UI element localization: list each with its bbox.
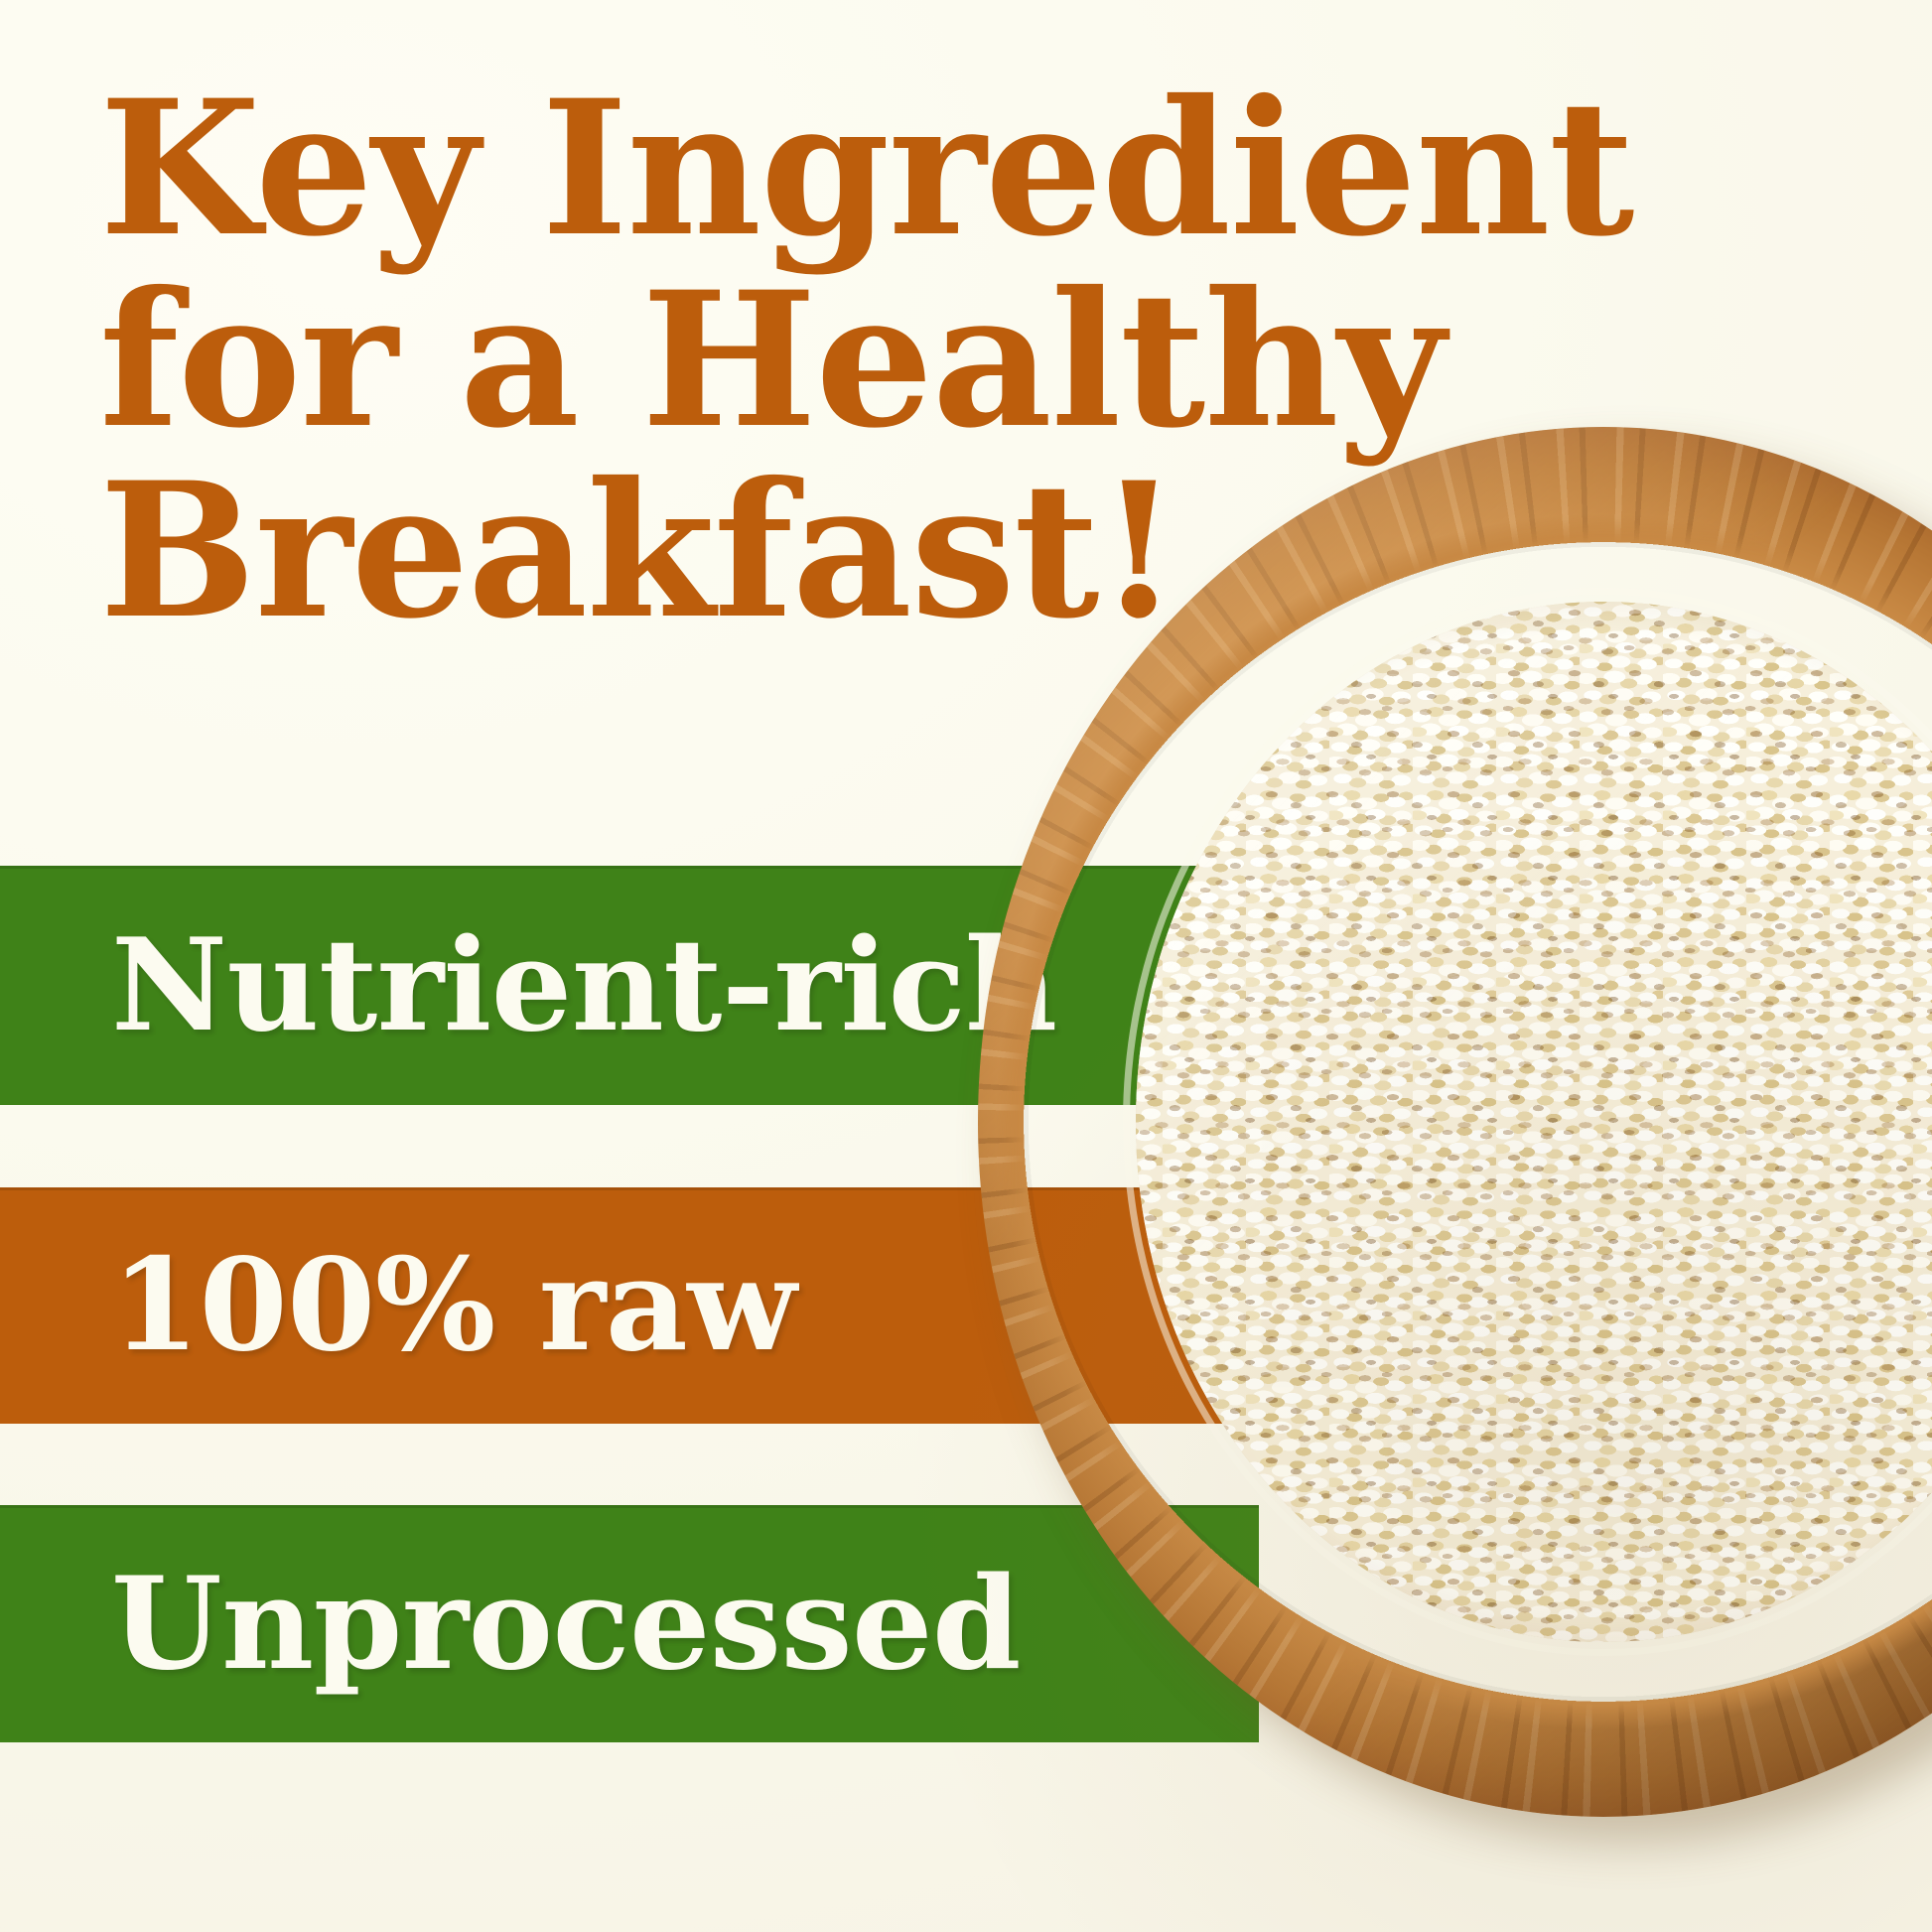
oat-flake-texture [1136,602,1932,1641]
promo-poster: Key Ingredient for a Healthy Breakfast! … [0,0,1932,1932]
bowl-crop-region [0,0,1932,1932]
wooden-bowl-of-oat-flakes [978,427,1932,1932]
oat-flakes [1136,602,1932,1641]
bowl-inner-ring [1123,588,1932,1655]
rim-highlight [978,427,1932,1817]
oat-surface-shading [1136,602,1932,1641]
wood-grain-texture [978,427,1932,1817]
bowl-rim [978,427,1932,1817]
oat-flake-shadow-texture [1136,602,1932,1641]
